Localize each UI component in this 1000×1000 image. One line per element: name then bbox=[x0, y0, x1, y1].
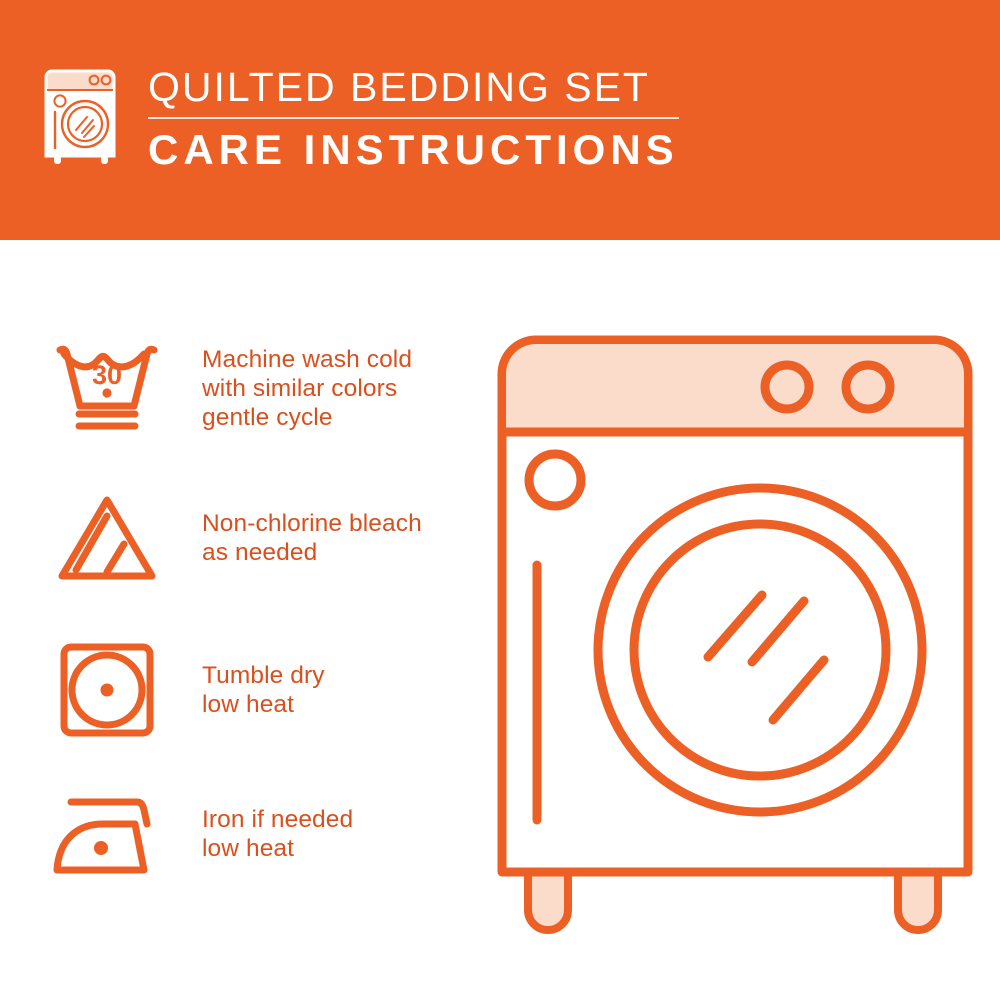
control-panel bbox=[506, 344, 964, 432]
care-text-iron: Iron if needed low heat bbox=[202, 805, 353, 863]
care-row-tumble-dry: Tumble dry low heat bbox=[48, 640, 468, 740]
tumble-dry-icon bbox=[48, 640, 166, 740]
title-block: QUILTED BEDDING SET CARE INSTRUCTIONS bbox=[148, 62, 679, 173]
bleach-triangle-icon bbox=[48, 492, 166, 584]
washing-machine-icon bbox=[44, 62, 122, 166]
care-row-bleach: Non-chlorine bleach as needed bbox=[48, 492, 468, 584]
page-subtitle: CARE INSTRUCTIONS bbox=[148, 127, 679, 173]
title-divider bbox=[148, 117, 679, 119]
washing-machine-illustration bbox=[490, 320, 980, 940]
care-line-2: low heat bbox=[202, 690, 325, 719]
care-line-1: Iron if needed bbox=[202, 805, 353, 834]
care-row-iron: Iron if needed low heat bbox=[48, 790, 468, 878]
page-title: QUILTED BEDDING SET bbox=[148, 64, 679, 110]
iron-icon bbox=[48, 790, 166, 878]
care-row-wash: 30 Machine wash cold with similar colors… bbox=[48, 340, 468, 436]
care-line-1: Tumble dry bbox=[202, 661, 325, 690]
wash-temperature-label: 30 bbox=[92, 360, 122, 390]
header-banner: QUILTED BEDDING SET CARE INSTRUCTIONS bbox=[0, 0, 1000, 240]
care-line-2: as needed bbox=[202, 538, 422, 567]
care-text-bleach: Non-chlorine bleach as needed bbox=[202, 509, 422, 567]
care-line-1: Non-chlorine bleach bbox=[202, 509, 422, 538]
care-line-2: low heat bbox=[202, 834, 353, 863]
care-line-2: with similar colors bbox=[202, 374, 412, 403]
care-text-wash: Machine wash cold with similar colors ge… bbox=[202, 345, 412, 432]
care-instructions-list: 30 Machine wash cold with similar colors… bbox=[0, 240, 470, 1000]
care-text-tumble-dry: Tumble dry low heat bbox=[202, 661, 325, 719]
care-line-1: Machine wash cold bbox=[202, 345, 412, 374]
care-line-3: gentle cycle bbox=[202, 403, 412, 432]
header-content: QUILTED BEDDING SET CARE INSTRUCTIONS bbox=[44, 62, 679, 173]
wash-basin-icon: 30 bbox=[48, 340, 166, 436]
